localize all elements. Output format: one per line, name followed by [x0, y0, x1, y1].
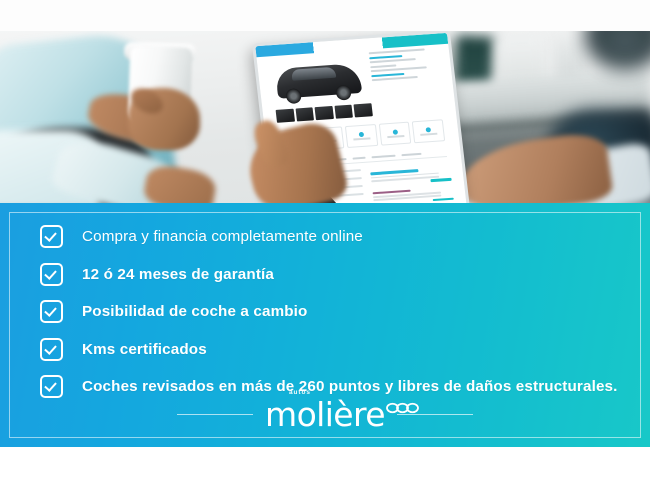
checkbox-checked-icon [40, 225, 63, 248]
thumbnail [354, 103, 373, 117]
thumbnail [295, 107, 314, 121]
badge-icon [426, 127, 432, 132]
logo-tagline: autos [289, 389, 311, 396]
logo-rule-right [397, 414, 473, 415]
badge-label [353, 138, 370, 141]
offer-cta [433, 197, 454, 201]
offer-cta [431, 178, 452, 182]
text-line [370, 58, 416, 63]
tab-item [371, 154, 395, 158]
offer-card [372, 186, 453, 203]
thumbnail [276, 109, 295, 123]
thumbnail [334, 105, 353, 119]
feature-badge [345, 124, 378, 148]
tab-item [401, 152, 421, 155]
text-line-accent [371, 72, 404, 76]
photo-top-white-strip [0, 0, 650, 31]
badge-icon [392, 130, 398, 135]
list-item: 12 ó 24 meses de garantía [40, 263, 630, 286]
list-item: Posibilidad de coche a cambio [40, 300, 630, 323]
checkbox-checked-icon [40, 338, 63, 361]
list-item: Kms certificados [40, 338, 630, 361]
chain-link-icon [386, 402, 419, 414]
text-line [371, 66, 427, 72]
banner-root: Compra y financia completamente online 1… [0, 0, 650, 488]
badge-icon [359, 132, 365, 137]
logo-stack: autos molière [265, 398, 385, 431]
logo-rule-left [177, 414, 253, 415]
list-item-label: Kms certificados [82, 341, 207, 358]
brand-logo-area: autos molière [0, 391, 650, 437]
logo-wordmark: molière [265, 398, 385, 431]
badge-label [387, 135, 404, 138]
list-item-label: 12 ó 24 meses de garantía [82, 266, 274, 283]
checkbox-checked-icon [40, 263, 63, 286]
offer-card [370, 167, 451, 186]
feature-bullet-list: Compra y financia completamente online 1… [40, 225, 630, 413]
hero-photo [0, 0, 650, 203]
tablet-car-summary [369, 48, 438, 84]
text-line [370, 64, 397, 68]
feature-badge [379, 122, 412, 146]
text-line-accent [369, 55, 402, 59]
checkbox-checked-icon [40, 300, 63, 323]
text-line [372, 76, 418, 81]
tablet-photo-thumbnails [276, 103, 373, 123]
list-item-label: Posibilidad de coche a cambio [82, 303, 307, 320]
text-line [369, 48, 425, 54]
thumbnail [315, 106, 334, 120]
list-item-label: Compra y financia completamente online [82, 228, 363, 245]
badge-label [420, 133, 437, 136]
tablet-car-photo [270, 53, 367, 107]
feature-badge [412, 119, 445, 143]
list-item: Compra y financia completamente online [40, 225, 630, 248]
brand-logo[interactable]: autos molière [265, 398, 385, 431]
features-panel: Compra y financia completamente online 1… [0, 203, 650, 447]
tab-item [352, 156, 365, 159]
tablet-offer-cards [370, 167, 456, 203]
